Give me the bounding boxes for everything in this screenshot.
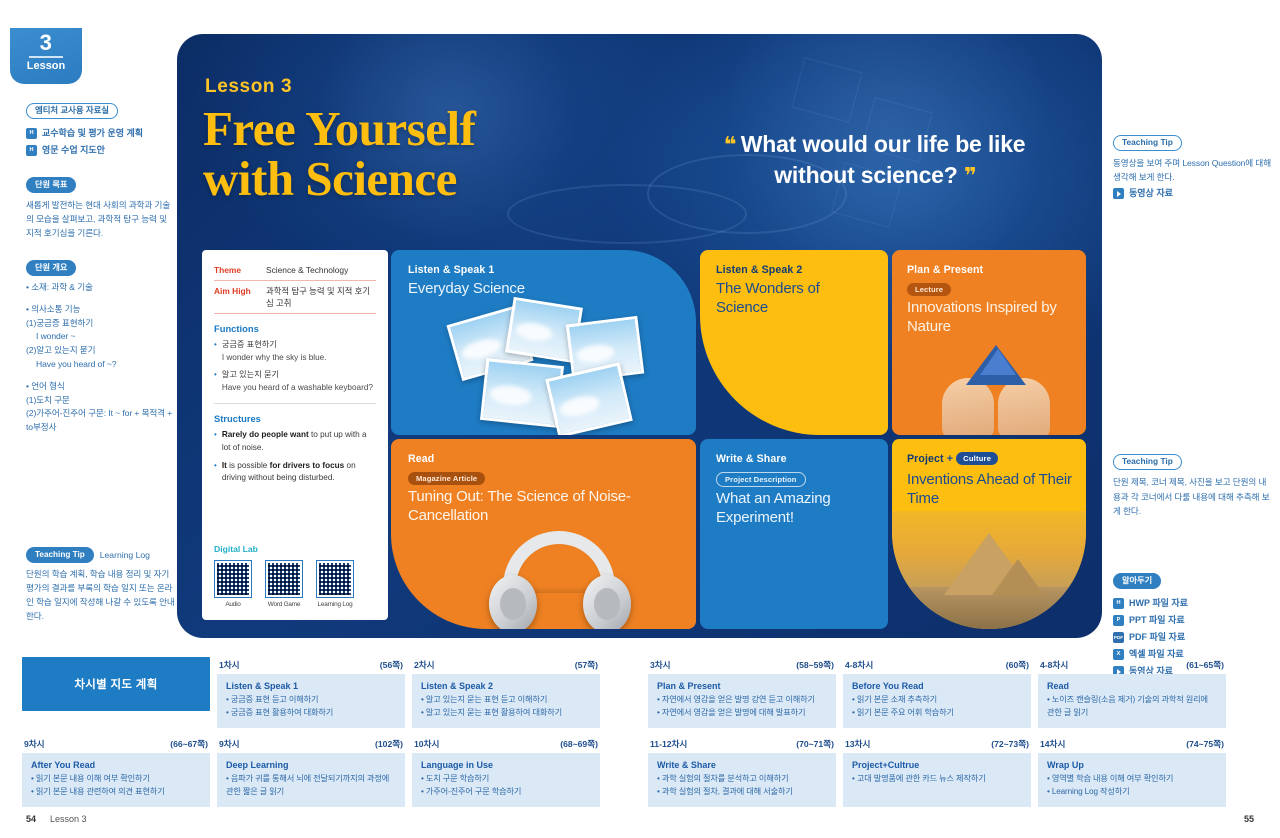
plan-pages: (66~67쪽) <box>170 738 208 750</box>
plan-cell: 1차시 (56쪽) Listen & Speak 1 • 궁금증 표현 듣고 이… <box>217 657 405 728</box>
ppt-file-icon: P <box>1113 615 1124 626</box>
footer-right: 55 <box>1244 814 1254 824</box>
corner-card-listen-speak-2[interactable]: Listen & Speak 2 The Wonders of Science <box>700 250 888 435</box>
right-sidebar: Teaching Tip 동영상을 보여 주며 Lesson Question에… <box>1113 132 1273 695</box>
plan-cell-line: • 도치 구문 학습하기 <box>421 773 591 786</box>
teaching-tip-pill: Teaching Tip <box>1113 135 1182 151</box>
plan-cell: 14차시 (74~75쪽) Wrap Up • 영역별 학습 내용 이해 여부 … <box>1038 736 1226 807</box>
page-title: Free Yourself with Science <box>203 104 475 204</box>
qr-code-icon <box>265 560 303 598</box>
qr-item-audio[interactable]: Audio <box>214 560 252 608</box>
plan-cell-line: • 자연에서 영감을 얻은 발명에 대해 발표하기 <box>657 707 827 720</box>
plan-cell: 2차시 (57쪽) Listen & Speak 2 • 알고 있는지 묻는 표… <box>412 657 600 728</box>
hwp-file-icon: H <box>26 145 37 156</box>
legend-label: HWP 파일 자료 <box>1129 596 1188 611</box>
textbook-spread: 3 Lesson 엠티처 교사용 자료실 H 교수학습 및 평가 운영 계획 H… <box>0 0 1280 838</box>
plan-pages: (61~65쪽) <box>1186 659 1224 671</box>
plan-cell-head: 4-8차시 (60쪽) <box>843 657 1031 674</box>
lesson-number-tab: 3 Lesson <box>10 28 82 84</box>
plan-cell-body: Wrap Up • 영역별 학습 내용 이해 여부 확인하기 • Learnin… <box>1038 753 1226 807</box>
plan-period: 13차시 <box>845 738 870 750</box>
divider <box>214 313 376 314</box>
plan-period: 3차시 <box>650 659 671 671</box>
lesson-tab-label: Lesson <box>10 60 82 73</box>
lab-glass-decoration <box>507 184 747 244</box>
plan-cell-body: Project+Cultrue • 고대 발명품에 관한 카드 뉴스 제작하기 <box>843 753 1031 807</box>
function-ko: 궁금증 표현하기 <box>222 340 277 349</box>
plan-cell-body: After You Read • 읽기 본문 내용 이해 여부 확인하기 • 읽… <box>22 753 210 807</box>
plan-cell-line: • 영역별 학습 내용 이해 여부 확인하기 <box>1047 773 1217 786</box>
card-tag: Project Description <box>716 472 806 487</box>
plan-pages: (60쪽) <box>1006 659 1029 671</box>
plan-period: 14차시 <box>1040 738 1065 750</box>
structure-item: • Rarely do people want to put up with a… <box>214 429 376 454</box>
card-title: Tuning Out: The Science of Noise-Cancell… <box>408 487 673 525</box>
unit-overview-card: Theme Science & Technology Aim High 과학적 … <box>202 250 388 620</box>
bullet-icon: • <box>214 339 217 364</box>
card-title: What an Amazing Experiment! <box>716 489 881 527</box>
structure-text: Rarely do people want to put up with a l… <box>222 429 376 454</box>
theme-key: Theme <box>214 265 258 275</box>
lesson-question: ❝ What would our life be like without sc… <box>677 129 1072 191</box>
plan-title: 차시별 지도 계획 <box>22 657 210 711</box>
plan-period: 2차시 <box>414 659 435 671</box>
resource-item[interactable]: H 영문 수업 지도안 <box>26 143 176 158</box>
footer-lesson-label: Lesson 3 <box>50 814 87 824</box>
fn-ko: 알고 있는지 묻기 <box>36 345 95 355</box>
plan-cell-body: Before You Read • 읽기 본문 소재 추측하기 • 읽기 본문 … <box>843 674 1031 728</box>
function-en: Have you heard of a washable keyboard? <box>222 382 373 395</box>
plan-cell-line: • 음파가 귀를 통해서 뇌에 전달되기까지의 과정에 관한 짧은 글 읽기 <box>226 773 396 799</box>
plan-cell: 13차시 (72~73쪽) Project+Cultrue • 고대 발명품에 … <box>843 736 1031 807</box>
function-en: I wonder why the sky is blue. <box>222 352 327 365</box>
plan-cell: 4-8차시 (61~65쪽) Read • 노이즈 캔슬링(소음 제거) 기술의… <box>1038 657 1226 728</box>
fn-ko: 궁금증 표현하기 <box>36 318 93 328</box>
qr-caption: Audio <box>214 601 252 608</box>
video-resource-item[interactable]: 동영상 자료 <box>1113 186 1273 201</box>
plan-cell-line: • 노이즈 캔슬링(소음 제거) 기술의 과학적 원리에 관한 글 읽기 <box>1047 694 1217 720</box>
outline-form-item: (2)가주어-진주어 구문: It ~ for + 목적격 + to부정사 <box>26 407 176 434</box>
plan-cell-heading: Deep Learning <box>226 760 396 770</box>
card-eyebrow: Listen & Speak 1 <box>408 264 494 276</box>
card-title: The Wonders of Science <box>716 279 866 317</box>
plan-cell-body: Language in Use • 도치 구문 학습하기 • 가주어-진주어 구… <box>412 753 600 807</box>
function-item: • 알고 있는지 묻기 Have you heard of a washable… <box>214 369 376 394</box>
qr-row: Audio Word Game Learning Log <box>214 560 377 608</box>
plan-cell-head: 10차시 (68~69쪽) <box>412 736 600 753</box>
teaching-tip-body: 단원 제목, 코너 제목, 사진을 보고 단원의 내용과 각 코너에서 다룰 내… <box>1113 475 1273 518</box>
aim-value: 과학적 탐구 능력 및 지적 호기심 고취 <box>266 285 376 309</box>
plan-cell-line: • 읽기 본문 내용 관련하여 의견 표현하기 <box>31 786 201 799</box>
bullet-icon: • <box>214 369 217 394</box>
plan-cell-line: • Learning Log 작성하기 <box>1047 786 1217 799</box>
hero-title-line2: with Science <box>203 154 475 204</box>
plan-cell-heading: Wrap Up <box>1047 760 1217 770</box>
plan-cell: 9차시 (102쪽) Deep Learning • 음파가 귀를 통해서 뇌에… <box>217 736 405 807</box>
qr-caption: Word Game <box>265 601 303 608</box>
lesson-question-line1: What would our life be like <box>741 131 1026 157</box>
digital-lab-section: Digital Lab Audio Word Game Learning Log <box>214 544 377 608</box>
structure-item: • It is possible for drivers to focus on… <box>214 460 376 485</box>
outline-function-item: (2)알고 있는지 묻기 <box>26 344 176 358</box>
unit-outline-block: 단원 개요 • 소재: 과학 & 기술 • 의사소통 기능 (1)궁금증 표현하… <box>26 257 176 435</box>
divider <box>214 403 376 404</box>
plan-pages: (68~69쪽) <box>560 738 598 750</box>
plan-period: 9차시 <box>219 738 240 750</box>
plan-pages: (70~71쪽) <box>796 738 834 750</box>
card-tag: Magazine Article <box>408 472 485 485</box>
plan-cell-heading: Before You Read <box>852 681 1022 691</box>
qr-caption: Learning Log <box>316 601 354 608</box>
outline-form-item: (1)도치 구문 <box>26 394 176 408</box>
function-text: 궁금증 표현하기 I wonder why the sky is blue. <box>222 339 327 364</box>
plan-cell-heading: Language in Use <box>421 760 591 770</box>
plan-pages: (74~75쪽) <box>1186 738 1224 750</box>
outline-function-en: I wonder ~ <box>26 330 176 344</box>
legend-pill: 알아두기 <box>1113 573 1161 589</box>
teaching-tip-bottom-block: Teaching Tip 단원 제목, 코너 제목, 사진을 보고 단원의 내용… <box>1113 451 1273 518</box>
video-icon <box>1113 188 1124 199</box>
legend-item: P PPT 파일 자료 <box>1113 613 1273 628</box>
structure-mid: is possible <box>227 461 270 470</box>
card-eyebrow: Write & Share <box>716 453 787 465</box>
gutter <box>607 736 641 807</box>
lesson-number: 3 <box>10 31 82 55</box>
unit-goal-body: 새롭게 발전하는 현대 사회의 과학과 기술의 모습을 살펴보고, 과학적 탐구… <box>26 198 176 241</box>
legend-item: H HWP 파일 자료 <box>1113 596 1273 611</box>
structure-bold: Rarely do people want <box>222 430 309 439</box>
teaching-tip-extra: Learning Log <box>100 550 150 560</box>
plan-cell-body: Write & Share • 과학 실험의 절차를 분석하고 이해하기 • 과… <box>648 753 836 807</box>
plan-cell-heading: Listen & Speak 2 <box>421 681 591 691</box>
plan-cell-line: • 자연에서 영감을 얻은 발명 강연 듣고 이해하기 <box>657 694 827 707</box>
plan-cell: 10차시 (68~69쪽) Language in Use • 도치 구문 학습… <box>412 736 600 807</box>
qr-code-icon <box>214 560 252 598</box>
card-eyebrow: Listen & Speak 2 <box>716 264 802 276</box>
plan-cell-body: Plan & Present • 자연에서 영감을 얻은 발명 강연 듣고 이해… <box>648 674 836 728</box>
outline-function-head: • 의사소통 기능 <box>26 303 176 317</box>
plan-period: 4-8차시 <box>845 659 873 671</box>
quote-open-icon: ❝ <box>724 132 735 157</box>
corner-card-read[interactable]: Read Magazine Article Tuning Out: The Sc… <box>391 439 696 629</box>
aim-row: Aim High 과학적 탐구 능력 및 지적 호기심 고취 <box>214 281 376 313</box>
theme-value: Science & Technology <box>266 264 348 276</box>
structure-bold-2: for drivers to focus <box>270 461 345 470</box>
unit-goal-pill: 단원 목표 <box>26 177 76 193</box>
teaching-tip-pill: Teaching Tip <box>1113 454 1182 470</box>
card-title: Inventions Ahead of Their Time <box>907 470 1082 508</box>
qr-code-icon <box>316 560 354 598</box>
bullet-icon: • <box>214 429 217 454</box>
function-item: • 궁금증 표현하기 I wonder why the sky is blue. <box>214 339 376 364</box>
plan-cell: 9차시 (66~67쪽) After You Read • 읽기 본문 내용 이… <box>22 736 210 807</box>
plan-cell-heading: After You Read <box>31 760 201 770</box>
plan-cell: 4-8차시 (60쪽) Before You Read • 읽기 본문 소재 추… <box>843 657 1031 728</box>
form-text: 도치 구문 <box>36 395 70 405</box>
page-number-right: 55 <box>1244 814 1254 824</box>
resource-room-block: 엠티처 교사용 자료실 H 교수학습 및 평가 운영 계획 H 영문 수업 지도… <box>26 100 176 158</box>
plan-cell-head: 11-12차시 (70~71쪽) <box>648 736 836 753</box>
plan-cell-line: • 알고 있는지 묻는 표현 듣고 이해하기 <box>421 694 591 707</box>
plan-cell-body: Listen & Speak 2 • 알고 있는지 묻는 표현 듣고 이해하기 … <box>412 674 600 728</box>
footer-left: 54Lesson 3 <box>26 814 87 824</box>
unit-goal-block: 단원 목표 새롭게 발전하는 현대 사회의 과학과 기술의 모습을 살펴보고, … <box>26 174 176 241</box>
qr-item-learning-log[interactable]: Learning Log <box>316 560 354 608</box>
headphones-photo <box>487 531 632 629</box>
plan-cell-line: • 고대 발명품에 관한 카드 뉴스 제작하기 <box>852 773 1022 786</box>
plan-cell-line: • 과학 실험의 절차를 분석하고 이해하기 <box>657 773 827 786</box>
quote-close-icon: ❞ <box>964 163 975 188</box>
form-no: (2) <box>26 408 36 418</box>
lesson-question-line2: without science? <box>774 162 957 188</box>
card-eyebrow-text: Project <box>907 453 944 465</box>
teaching-tip-body: 동영상을 보여 주며 Lesson Question에 대해 생각해 보게 한다… <box>1113 156 1273 184</box>
teaching-tip-head: Teaching Tip Learning Log <box>26 547 176 563</box>
digital-lab-heading: Digital Lab <box>214 544 377 554</box>
aim-key: Aim High <box>214 286 258 296</box>
plan-cell-heading: Plan & Present <box>657 681 827 691</box>
card-eyebrow: Read <box>408 453 434 465</box>
plan-cell-line: • 읽기 본문 주요 어휘 학습하기 <box>852 707 1022 720</box>
corner-card-write-share[interactable]: Write & Share Project Description What a… <box>700 439 888 629</box>
divider <box>29 56 63 58</box>
plan-cell-line: • 읽기 본문 소재 추측하기 <box>852 694 1022 707</box>
page-number-left: 54 <box>26 814 36 824</box>
resource-item-label: 교수학습 및 평가 운영 계획 <box>42 126 143 141</box>
plan-cell-body: Read • 노이즈 캔슬링(소음 제거) 기술의 과학적 원리에 관한 글 읽… <box>1038 674 1226 728</box>
plan-cell-head: 9차시 (66~67쪽) <box>22 736 210 753</box>
outline-form-head: • 언어 형식 <box>26 380 176 394</box>
legend-item: PDF PDF 파일 자료 <box>1113 630 1273 645</box>
structures-heading: Structures <box>214 413 376 424</box>
plan-cell-head: 14차시 (74~75쪽) <box>1038 736 1226 753</box>
fn-no: (1) <box>26 318 36 328</box>
outline-topic: • 소재: 과학 & 기술 <box>26 281 176 295</box>
plan-cell-body: Deep Learning • 음파가 귀를 통해서 뇌에 전달되기까지의 과정… <box>217 753 405 807</box>
form-text: 가주어-진주어 구문: It ~ for + 목적격 + to부정사 <box>26 408 172 432</box>
plan-period: 1차시 <box>219 659 240 671</box>
gutter <box>607 657 641 728</box>
function-ko: 알고 있는지 묻기 <box>222 370 279 379</box>
lesson-kicker: Lesson 3 <box>205 76 292 98</box>
lesson-plan-table: 차시별 지도 계획 1차시 (56쪽) Listen & Speak 1 • 궁… <box>22 657 1260 807</box>
plan-cell-heading: Project+Cultrue <box>852 760 1022 770</box>
plan-pages: (58~59쪽) <box>796 659 834 671</box>
outline-function-item: (1)궁금증 표현하기 <box>26 317 176 331</box>
plan-cell-line: • 궁금증 표현 활용하여 대화하기 <box>226 707 396 720</box>
fn-no: (2) <box>26 345 36 355</box>
corner-card-plan-present[interactable]: Plan & Present Lecture Innovations Inspi… <box>892 250 1086 435</box>
hwp-file-icon: H <box>1113 598 1124 609</box>
plan-cell-head: 3차시 (58~59쪽) <box>648 657 836 674</box>
plan-cell: 3차시 (58~59쪽) Plan & Present • 자연에서 영감을 얻… <box>648 657 836 728</box>
plan-cell-body: Listen & Speak 1 • 궁금증 표현 듣고 이해하기 • 궁금증 … <box>217 674 405 728</box>
plan-cell-head: 1차시 (56쪽) <box>217 657 405 674</box>
teaching-tip-block: Teaching Tip Learning Log 단원의 학습 계획, 학습 … <box>26 547 176 624</box>
plan-period: 11-12차시 <box>650 738 687 750</box>
legend-label: PDF 파일 자료 <box>1129 630 1185 645</box>
plan-cell-head: 9차시 (102쪽) <box>217 736 405 753</box>
plan-cell-head: 2차시 (57쪽) <box>412 657 600 674</box>
form-no: (1) <box>26 395 36 405</box>
plan-cell-line: • 읽기 본문 내용 이해 여부 확인하기 <box>31 773 201 786</box>
plan-pages: (72~73쪽) <box>991 738 1029 750</box>
plan-cell-head: 4-8차시 (61~65쪽) <box>1038 657 1226 674</box>
pyramid-photo <box>892 511 1086 629</box>
hero-title-line1: Free Yourself <box>203 104 475 154</box>
hwp-file-icon: H <box>26 128 37 139</box>
card-eyebrow: Plan & Present <box>907 264 983 276</box>
corner-card-listen-speak-1[interactable]: Listen & Speak 1 Everyday Science <box>391 250 696 435</box>
plan-cell: 11-12차시 (70~71쪽) Write & Share • 과학 실험의 … <box>648 736 836 807</box>
plan-row-1: 차시별 지도 계획 1차시 (56쪽) Listen & Speak 1 • 궁… <box>22 657 1260 728</box>
plan-cell-heading: Listen & Speak 1 <box>226 681 396 691</box>
card-title: Innovations Inspired by Nature <box>907 298 1082 336</box>
plan-period: 4-8차시 <box>1040 659 1068 671</box>
plan-cell-heading: Read <box>1047 681 1217 691</box>
qr-item-word-game[interactable]: Word Game <box>265 560 303 608</box>
outline-function-en: Have you heard of ~? <box>26 358 176 372</box>
legend-label: PPT 파일 자료 <box>1129 613 1185 628</box>
card-title: Everyday Science <box>408 279 525 298</box>
card-tag: Lecture <box>907 283 951 296</box>
plan-period: 9차시 <box>24 738 45 750</box>
bullet-icon: • <box>214 460 217 485</box>
plan-cell-line: • 과학 실험의 절차, 결과에 대해 서술하기 <box>657 786 827 799</box>
left-sidebar: 엠티처 교사용 자료실 H 교수학습 및 평가 운영 계획 H 영문 수업 지도… <box>26 100 176 639</box>
plan-cell-line: • 궁금증 표현 듣고 이해하기 <box>226 694 396 707</box>
hex-texture <box>791 57 862 123</box>
hands-with-origami-photo <box>922 345 1072 435</box>
pdf-file-icon: PDF <box>1113 632 1124 643</box>
plus-icon: + <box>947 453 954 465</box>
plan-cell-heading: Write & Share <box>657 760 827 770</box>
function-text: 알고 있는지 묻기 Have you heard of a washable k… <box>222 369 373 394</box>
teaching-tip-body: 단원의 학습 계획, 학습 내용 정리 및 자기 평가의 결과를 부록의 학습 … <box>26 567 176 624</box>
theme-row: Theme Science & Technology <box>214 260 376 280</box>
resource-item-label: 영문 수업 지도안 <box>42 143 105 158</box>
resource-room-pill: 엠티처 교사용 자료실 <box>26 103 118 119</box>
plan-cell-line: • 가주어-진주어 구문 학습하기 <box>421 786 591 799</box>
unit-outline-pill: 단원 개요 <box>26 260 76 276</box>
functions-heading: Functions <box>214 323 376 334</box>
teaching-tip-pill: Teaching Tip <box>26 547 94 563</box>
plan-pages: (57쪽) <box>575 659 598 671</box>
card-eyebrow: Project + Culture <box>907 452 998 465</box>
corner-card-project-culture[interactable]: Project + Culture Inventions Ahead of Th… <box>892 439 1086 629</box>
culture-badge: Culture <box>956 452 998 465</box>
plan-pages: (56쪽) <box>380 659 403 671</box>
video-resource-label: 동영상 자료 <box>1129 186 1173 201</box>
plan-cell-line: • 알고 있는지 묻는 표현 활용하여 대화하기 <box>421 707 591 720</box>
plan-period: 10차시 <box>414 738 439 750</box>
plan-row-2: 9차시 (66~67쪽) After You Read • 읽기 본문 내용 이… <box>22 736 1260 807</box>
plan-pages: (102쪽) <box>375 738 403 750</box>
plan-cell-head: 13차시 (72~73쪽) <box>843 736 1031 753</box>
teaching-tip-top-block: Teaching Tip 동영상을 보여 주며 Lesson Question에… <box>1113 132 1273 201</box>
structure-text: It is possible for drivers to focus on d… <box>222 460 376 485</box>
resource-item[interactable]: H 교수학습 및 평가 운영 계획 <box>26 126 176 141</box>
